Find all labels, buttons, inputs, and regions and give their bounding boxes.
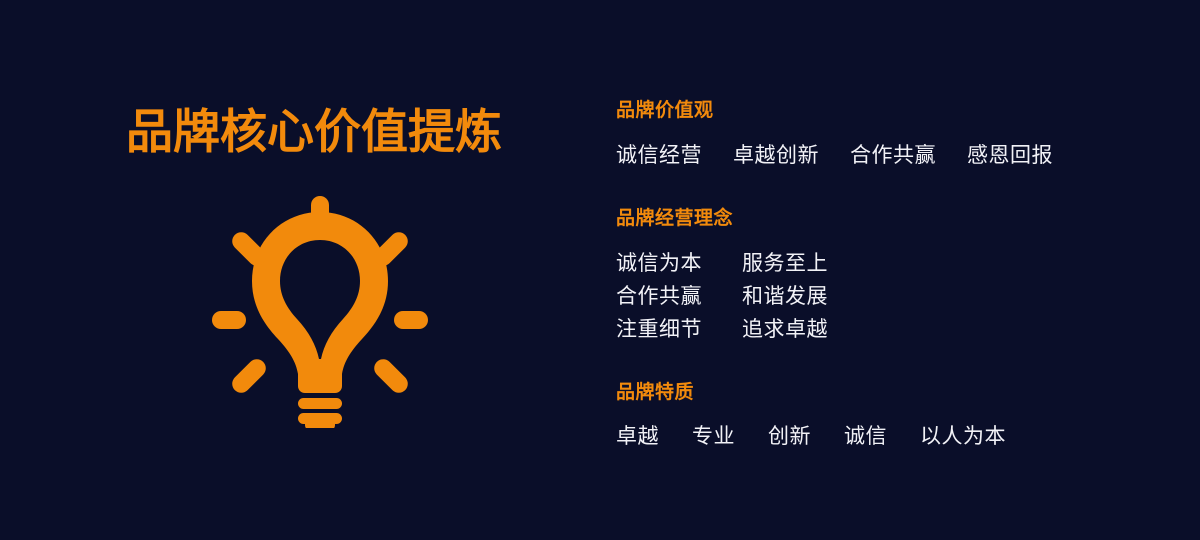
- trait-item: 以人为本: [920, 420, 1006, 453]
- item-row: 卓越 专业 创新 诚信 以人为本: [616, 420, 1176, 453]
- section-brand-values: 品牌价值观 诚信经营 卓越创新 合作共赢 感恩回报: [616, 100, 1176, 172]
- section-heading: 品牌特质: [616, 382, 1176, 405]
- section-brand-traits: 品牌特质 卓越 专业 创新 诚信 以人为本: [616, 382, 1176, 454]
- philosophy-item: 和谐发展: [742, 280, 828, 313]
- philosophy-item: 追求卓越: [742, 313, 828, 346]
- section-heading: 品牌价值观: [616, 100, 1176, 123]
- lightbulb-icon: [212, 196, 428, 428]
- value-item: 诚信经营: [616, 139, 702, 172]
- philosophy-item: 诚信为本: [616, 247, 742, 280]
- value-item: 卓越创新: [733, 139, 819, 172]
- item-row: 诚信经营 卓越创新 合作共赢 感恩回报: [616, 139, 1176, 172]
- value-item: 合作共赢: [850, 139, 936, 172]
- philosophy-item: 合作共赢: [616, 280, 742, 313]
- section-brand-philosophy: 品牌经营理念 诚信为本 服务至上 合作共赢 和谐发展 注重细节 追求卓越: [616, 208, 1176, 346]
- trait-item: 专业: [692, 420, 735, 453]
- left-panel: 品牌核心价值提炼: [0, 0, 580, 540]
- page-title: 品牌核心价值提炼: [126, 106, 502, 158]
- value-item: 感恩回报: [967, 139, 1053, 172]
- trait-item: 创新: [768, 420, 811, 453]
- content-panel: 品牌价值观 诚信经营 卓越创新 合作共赢 感恩回报 品牌经营理念 诚信为本 服务…: [616, 100, 1176, 453]
- item-row: 诚信为本 服务至上: [616, 247, 1176, 280]
- philosophy-item: 注重细节: [616, 313, 742, 346]
- slide-canvas: 品牌核心价值提炼: [0, 0, 1200, 540]
- philosophy-item: 服务至上: [742, 247, 828, 280]
- trait-item: 卓越: [616, 420, 659, 453]
- section-heading: 品牌经营理念: [616, 208, 1176, 231]
- item-row: 合作共赢 和谐发展: [616, 280, 1176, 313]
- item-row: 注重细节 追求卓越: [616, 313, 1176, 346]
- trait-item: 诚信: [844, 420, 887, 453]
